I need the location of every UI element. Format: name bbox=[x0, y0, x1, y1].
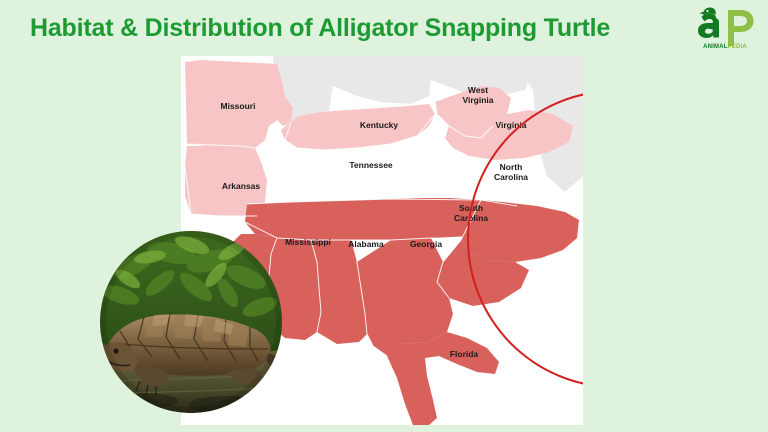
logo-wordmark-secondary: PEDIA bbox=[728, 44, 747, 50]
page-title: Habitat & Distribution of Alligator Snap… bbox=[30, 14, 610, 43]
alligator-snapping-turtle-photo bbox=[100, 231, 282, 413]
logo-wordmark-primary: ANIMAL bbox=[703, 44, 728, 50]
animalpedia-logo: ANIMALPEDIA bbox=[694, 6, 756, 58]
page-header: Habitat & Distribution of Alligator Snap… bbox=[0, 0, 768, 62]
logo-wordmark: ANIMALPEDIA bbox=[694, 44, 756, 50]
turtle-photo-graphic bbox=[100, 231, 282, 413]
logo-mark-icon bbox=[694, 6, 756, 46]
